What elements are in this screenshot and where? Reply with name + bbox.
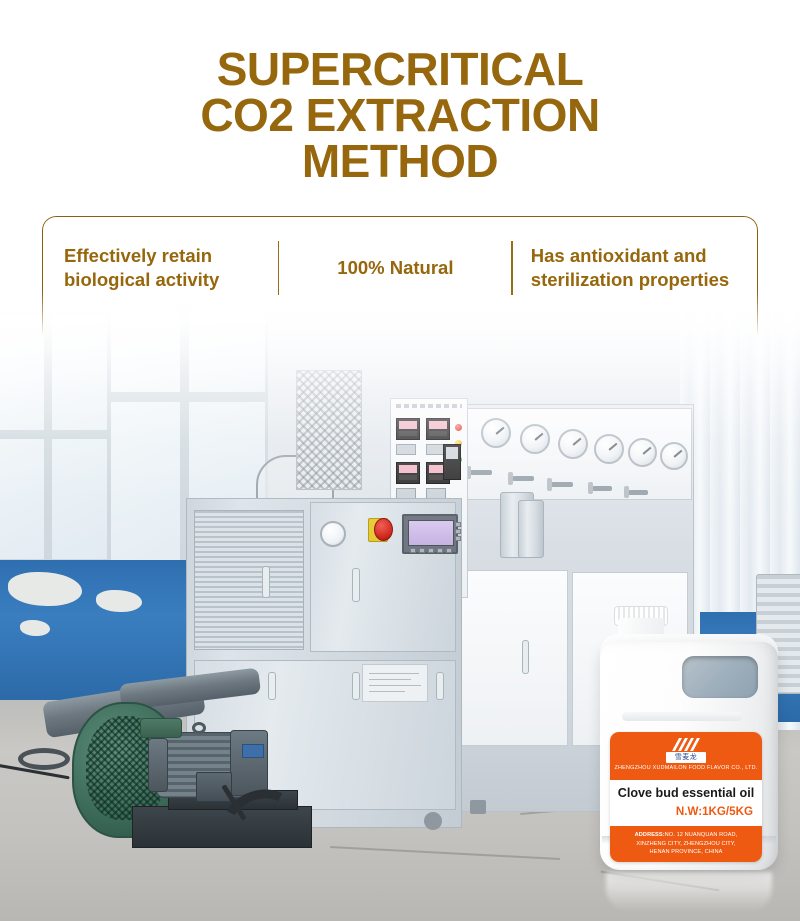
wall-paint-chip (20, 620, 50, 636)
valve-knob (588, 482, 593, 494)
feature-list: Effectively retain biological activity 1… (42, 216, 758, 320)
bottle-rib (622, 712, 742, 721)
feature-item-antioxidant: Has antioxidant and sterilization proper… (513, 244, 761, 292)
wall-paint-chip (96, 590, 142, 612)
blower-inlet-box (140, 718, 182, 738)
pressure-gauge (481, 418, 511, 448)
address-line-2: XINZHENG CITY, ZHENGZHOU CITY, (610, 840, 762, 849)
indicator-lamp-red (455, 424, 462, 431)
net-weight: N.W:1KG/5KG (676, 805, 753, 818)
pressure-gauge (520, 424, 550, 454)
vfd-drive (443, 444, 461, 480)
hmi-screen (408, 520, 454, 546)
pressure-gauge (558, 429, 588, 459)
feature-item-retain-activity: Effectively retain biological activity (42, 244, 278, 292)
valve-knob (624, 486, 629, 498)
address-label: ADDRESS: (635, 832, 665, 838)
company-name: ZHENGZHOU XUDMAILON FOOD FLAVOR CO., LTD… (610, 765, 762, 771)
chiller-door-handle (268, 672, 276, 700)
bottle-handle-cutout (682, 656, 758, 698)
digital-controller (426, 418, 450, 440)
chiller-hmi-display[interactable] (402, 514, 458, 554)
feature-2-line-1: 100% Natural (279, 256, 511, 280)
valve-handle (592, 486, 612, 491)
pressure-gauge (660, 442, 688, 470)
chiller-caster (424, 812, 442, 830)
pipe-clamp-ring (18, 748, 70, 770)
brand-logo-chinese: 雪麦龙 (666, 752, 706, 763)
feature-3-line-1: Has antioxidant and (531, 244, 761, 268)
motor-nameplate (242, 744, 264, 758)
feature-1-line-1: Effectively retain (64, 244, 278, 268)
headline-line-3: METHOD (0, 138, 800, 184)
emergency-stop-button[interactable] (374, 518, 393, 541)
product-bottle: 雪麦龙 ZHENGZHOU XUDMAILON FOOD FLAVOR CO.,… (596, 604, 782, 876)
valve-knob (508, 472, 513, 485)
motor-end-cap (148, 738, 168, 792)
chiller-pressure-gauge (320, 521, 346, 547)
condenser-mesh (296, 370, 362, 490)
page-title: SUPERCRITICAL CO2 EXTRACTION METHOD (0, 0, 800, 184)
window-mullion (0, 430, 110, 439)
valve-handle (628, 490, 648, 495)
vessel-door-handle (522, 640, 529, 674)
feature-1-line-2: biological activity (64, 268, 278, 292)
vessel-door (456, 570, 568, 746)
valve-knob (547, 478, 552, 491)
banner: SUPERCRITICAL CO2 EXTRACTION METHOD (0, 0, 800, 190)
label-header: 雪麦龙 ZHENGZHOU XUDMAILON FOOD FLAVOR CO.,… (610, 732, 762, 780)
equipment-foot (470, 800, 486, 814)
product-name: Clove bud essential oil (610, 786, 762, 800)
headline-line-1: SUPERCRITICAL (0, 46, 800, 92)
valve-handle (512, 476, 534, 481)
feature-item-natural: 100% Natural (279, 256, 511, 280)
chiller-air-vent (194, 510, 304, 650)
logo-mark-icon (670, 737, 702, 752)
pressure-gauge (594, 434, 624, 464)
chiller-door-handle (352, 568, 360, 602)
label-address-area: ADDRESS:NO. 12 NUANQUAN ROAD, XINZHENG C… (610, 826, 762, 862)
label-product-area: Clove bud essential oil N.W:1KG/5KG (610, 780, 762, 826)
motor-lifting-eye (192, 722, 206, 734)
bottle-floor-reflection (606, 872, 772, 912)
motor-terminal-cap (230, 730, 268, 796)
address-line-1-text: NO. 12 NUANQUAN ROAD, (665, 832, 738, 838)
selector-switch (396, 444, 416, 455)
headline-line-2: CO2 EXTRACTION (0, 92, 800, 138)
product-label: 雪麦龙 ZHENGZHOU XUDMAILON FOOD FLAVOR CO.,… (610, 732, 762, 862)
separator-column (518, 500, 544, 558)
valve-handle (470, 470, 492, 475)
valve-handle (551, 482, 573, 487)
window-mullion (44, 312, 52, 562)
address-line-3: HENAN PROVINCE, CHINA (610, 848, 762, 857)
pressure-gauge (628, 438, 657, 467)
digital-controller (396, 418, 420, 440)
digital-controller (396, 462, 420, 484)
address-line-1: ADDRESS:NO. 12 NUANQUAN ROAD, (610, 831, 762, 840)
brand-logo-chinese-text: 雪麦龙 (675, 752, 698, 763)
chiller-door-handle (352, 672, 360, 700)
brand-logo: 雪麦龙 (666, 737, 706, 765)
feature-3-line-2: sterilization properties (531, 268, 761, 292)
chiller-door-handle (436, 672, 444, 700)
chiller-spec-plate (362, 664, 428, 702)
panel-title-plate (396, 404, 462, 408)
chiller-door-handle (262, 566, 270, 598)
